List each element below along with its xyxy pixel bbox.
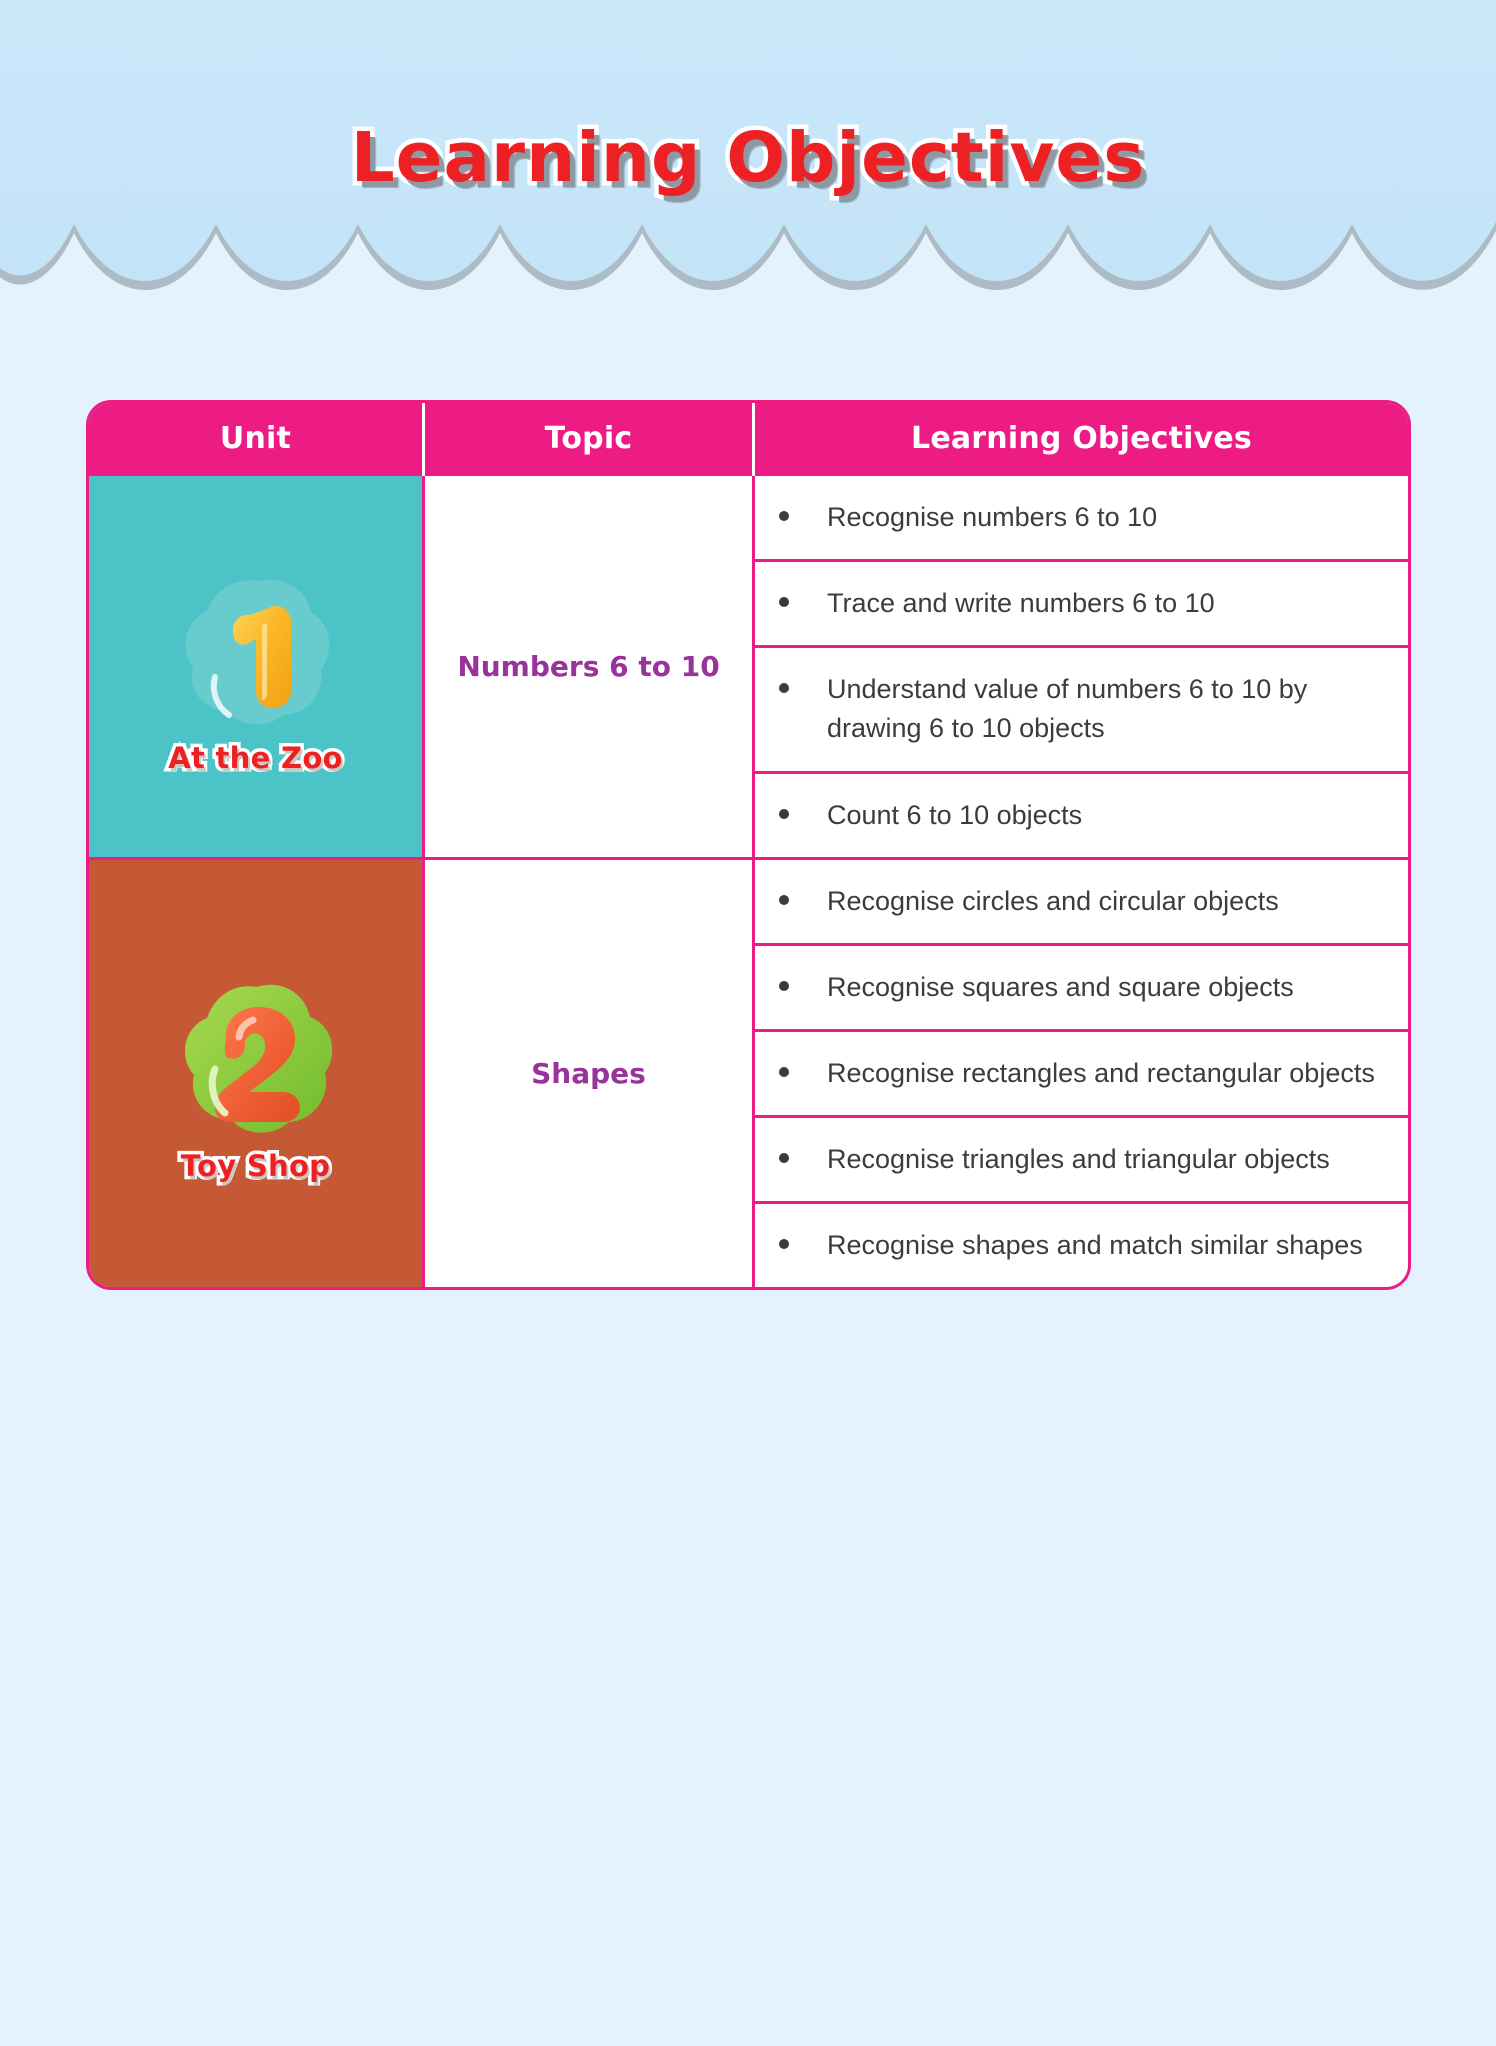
topic-label-1: Numbers 6 to 10: [437, 650, 740, 684]
list-item: Count 6 to 10 objects: [755, 774, 1408, 857]
table-row: At the Zoo Numbers 6 to 10 Recognise num…: [89, 476, 1408, 860]
bullet-icon: [779, 981, 789, 991]
column-header-unit: Unit: [89, 403, 425, 476]
bullet-icon: [779, 895, 789, 905]
unit-cell-2: Toy Shop: [89, 860, 425, 1288]
objective-text: Recognise squares and square objects: [827, 968, 1390, 1007]
unit-number-badge-1: [171, 565, 341, 735]
bullet-icon: [779, 1153, 789, 1163]
list-item: Recognise numbers 6 to 10: [755, 476, 1408, 562]
bullet-icon: [779, 809, 789, 819]
table-header-row: Unit Topic Learning Objectives: [89, 403, 1408, 476]
bullet-icon: [779, 511, 789, 521]
objective-text: Recognise numbers 6 to 10: [827, 498, 1390, 537]
unit-cell-1: At the Zoo: [89, 476, 425, 860]
list-item: Recognise circles and circular objects: [755, 860, 1408, 946]
unit-label-2: Toy Shop: [181, 1149, 330, 1183]
unit-label-1: At the Zoo: [168, 741, 343, 775]
objectives-cell-1: Recognise numbers 6 to 10 Trace and writ…: [755, 476, 1408, 860]
page-title: Learning Objectives: [0, 118, 1496, 198]
table-body: At the Zoo Numbers 6 to 10 Recognise num…: [89, 476, 1408, 1287]
topic-cell-1: Numbers 6 to 10: [425, 476, 755, 860]
objectives-list-2: Recognise circles and circular objects R…: [755, 860, 1408, 1288]
objective-text: Recognise circles and circular objects: [827, 882, 1390, 921]
list-item: Recognise squares and square objects: [755, 946, 1408, 1032]
learning-objectives-table: Unit Topic Learning Objectives: [89, 403, 1408, 1287]
bullet-icon: [779, 1239, 789, 1249]
list-item: Understand value of numbers 6 to 10 by d…: [755, 648, 1408, 773]
number-one-icon: [171, 565, 341, 735]
bullet-icon: [779, 683, 789, 693]
objective-text: Trace and write numbers 6 to 10: [827, 584, 1390, 623]
objective-text: Understand value of numbers 6 to 10 by d…: [827, 670, 1390, 748]
column-header-topic: Topic: [425, 403, 755, 476]
objective-text: Count 6 to 10 objects: [827, 796, 1390, 835]
topic-cell-2: Shapes: [425, 860, 755, 1288]
objective-text: Recognise triangles and triangular objec…: [827, 1140, 1390, 1179]
list-item: Trace and write numbers 6 to 10: [755, 562, 1408, 648]
table-header: Unit Topic Learning Objectives: [89, 403, 1408, 476]
table-row: Toy Shop Shapes Recognise circles and ci…: [89, 860, 1408, 1288]
objectives-cell-2: Recognise circles and circular objects R…: [755, 860, 1408, 1288]
column-header-objectives: Learning Objectives: [755, 403, 1408, 476]
objectives-list-1: Recognise numbers 6 to 10 Trace and writ…: [755, 476, 1408, 857]
unit-number-badge-2: [171, 973, 341, 1143]
list-item: Recognise triangles and triangular objec…: [755, 1118, 1408, 1204]
number-two-icon: [171, 973, 341, 1143]
list-item: Recognise rectangles and rectangular obj…: [755, 1032, 1408, 1118]
objective-text: Recognise rectangles and rectangular obj…: [827, 1054, 1390, 1093]
bullet-icon: [779, 597, 789, 607]
list-item: Recognise shapes and match similar shape…: [755, 1204, 1408, 1287]
objective-text: Recognise shapes and match similar shape…: [827, 1226, 1390, 1265]
bullet-icon: [779, 1067, 789, 1077]
topic-label-2: Shapes: [437, 1057, 740, 1091]
learning-objectives-table-wrapper: Unit Topic Learning Objectives: [89, 403, 1408, 1287]
